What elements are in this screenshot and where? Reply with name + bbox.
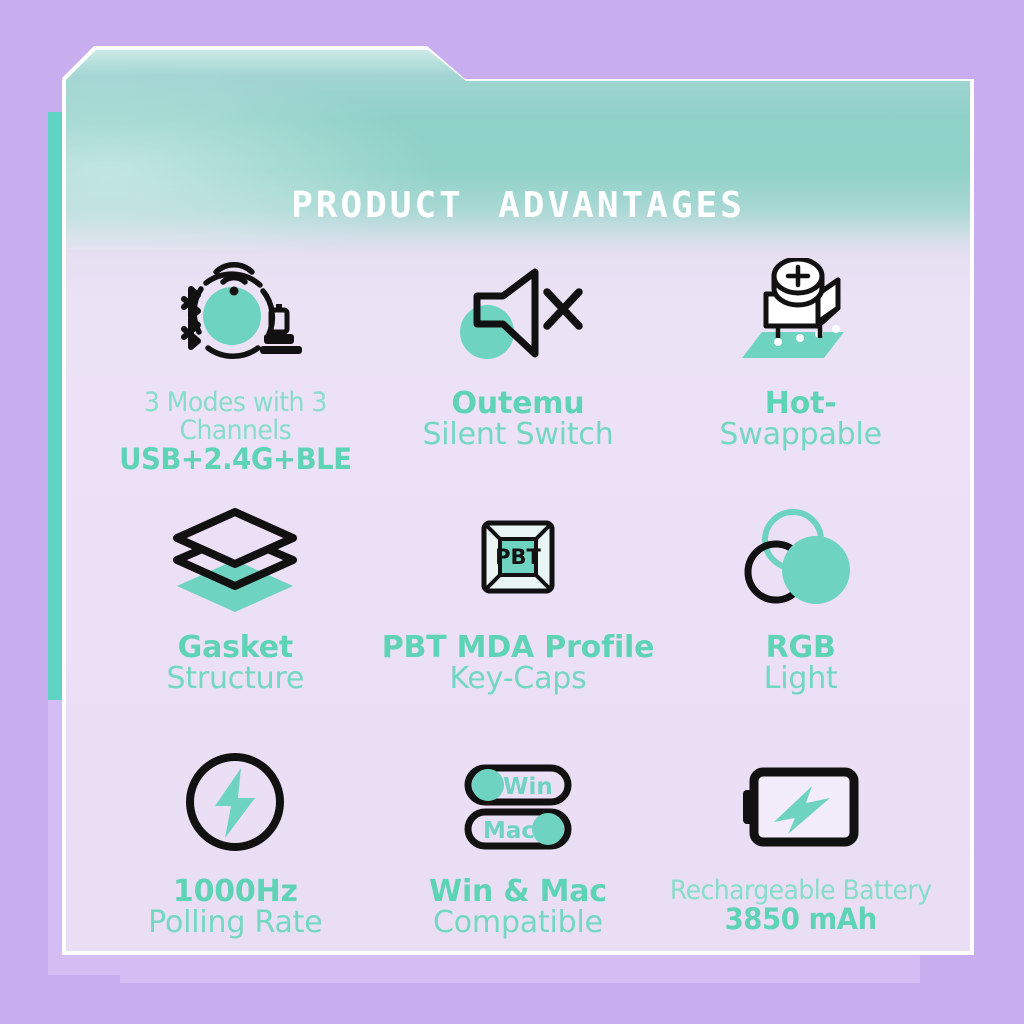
pbt-keycap-icon: PBT: [443, 499, 593, 627]
feature-line1: 1000Hz: [148, 877, 322, 908]
feature-connectivity: 3 Modes with 3 Channels USB+2.4G+BLE: [94, 255, 377, 499]
feature-line1: 3 Modes with 3 Channels: [104, 389, 367, 445]
features-grid: 3 Modes with 3 Channels USB+2.4G+BLE: [94, 255, 942, 987]
product-advantages-card: Product Advantages: [62, 46, 974, 955]
feature-keycaps: PBT PBT MDA Profile Key-Caps: [377, 499, 660, 743]
feature-line2: Key-Caps: [382, 664, 655, 695]
feature-labels: Gasket Structure: [166, 633, 304, 695]
feature-line1: Gasket: [166, 633, 304, 664]
toggle-label-win: Win: [503, 774, 553, 800]
feature-labels: 3 Modes with 3 Channels USB+2.4G+BLE: [94, 389, 377, 474]
poster-stage: Product Advantages: [0, 0, 1024, 1024]
charging-battery-icon: [726, 743, 876, 871]
keycap-text: PBT: [495, 545, 541, 569]
feature-hotswap: Hot- Swappable: [659, 255, 942, 499]
feature-line1: PBT MDA Profile: [382, 633, 655, 664]
toggle-label-mac: Mac: [483, 818, 535, 844]
feature-battery: Rechargeable Battery 3850 mAh: [659, 743, 942, 987]
feature-gasket: Gasket Structure: [94, 499, 377, 743]
feature-labels: Win & Mac Compatible: [429, 877, 607, 939]
feature-labels: Outemu Silent Switch: [422, 389, 613, 451]
feature-labels: 1000Hz Polling Rate: [148, 877, 322, 939]
stacked-layers-icon: [160, 499, 310, 627]
feature-switch: Outemu Silent Switch: [377, 255, 660, 499]
feature-line1: Outemu: [422, 389, 613, 420]
feature-compatibility: Win Mac Win & Mac Compatible: [377, 743, 660, 987]
feature-line1: Win & Mac: [429, 877, 607, 908]
feature-line2: 3850 mAh: [667, 905, 934, 935]
feature-labels: RGB Light: [764, 633, 838, 695]
feature-line2: Swappable: [719, 420, 881, 451]
wireless-bluetooth-usb-icon: [160, 255, 310, 383]
muted-speaker-icon: [443, 255, 593, 383]
feature-line2: Light: [764, 664, 838, 695]
card-inner-surface: Product Advantages: [66, 50, 970, 951]
feature-polling: 1000Hz Polling Rate: [94, 743, 377, 987]
feature-line2: Silent Switch: [422, 420, 613, 451]
feature-line2: Polling Rate: [148, 908, 322, 939]
hot-swap-switch-pcb-icon: [726, 255, 876, 383]
feature-line2: Compatible: [429, 908, 607, 939]
feature-line1: Hot-: [719, 389, 881, 420]
feature-labels: PBT MDA Profile Key-Caps: [382, 633, 655, 695]
page-title: Product Advantages: [66, 174, 970, 226]
feature-rgb: RGB Light: [659, 499, 942, 743]
feature-line1: Rechargeable Battery: [670, 877, 932, 905]
lightning-circle-icon: [160, 743, 310, 871]
feature-line2: USB+2.4G+BLE: [101, 445, 370, 475]
feature-line2: Structure: [166, 664, 304, 695]
win-mac-toggle-icon: Win Mac: [443, 743, 593, 871]
feature-line1: RGB: [764, 633, 838, 664]
feature-labels: Hot- Swappable: [719, 389, 881, 451]
feature-labels: Rechargeable Battery 3850 mAh: [660, 877, 941, 935]
overlapping-circles-icon: [726, 499, 876, 627]
